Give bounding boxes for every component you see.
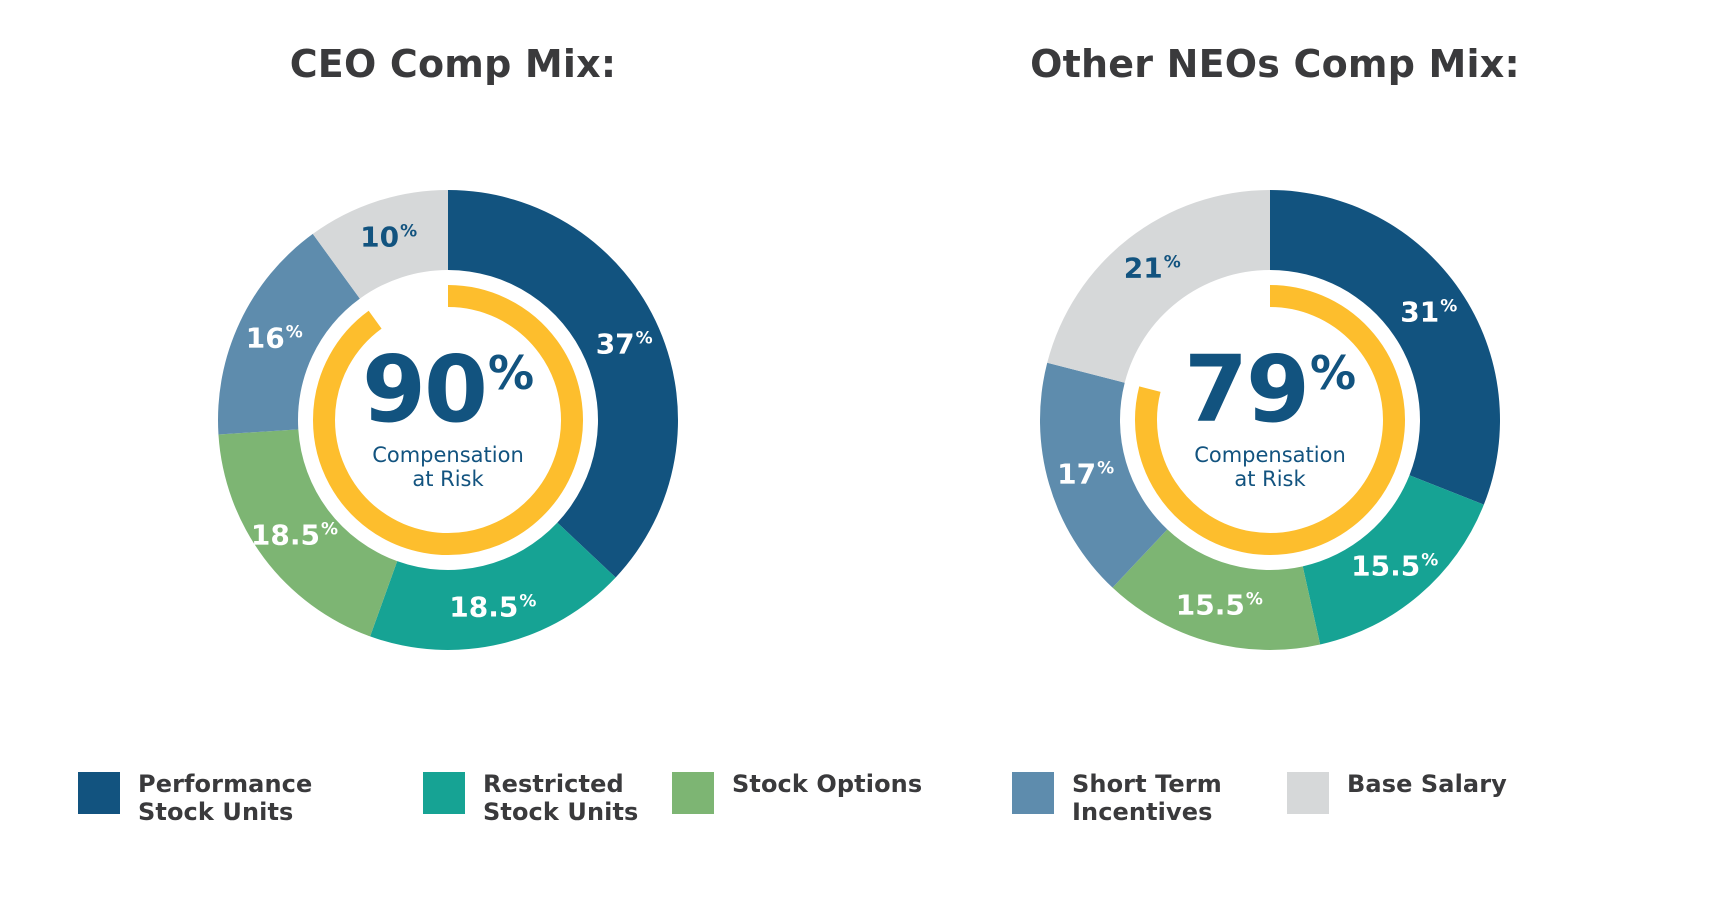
donut-ceo-at-risk-ring (324, 296, 572, 544)
slice-label: 18.5% (251, 519, 338, 552)
chart-title-neo: Other NEOs Comp Mix: (822, 42, 1728, 86)
chart-legend: Performance Stock UnitsRestricted Stock … (0, 770, 1728, 850)
donut-chart-neo: 79 % Compensation at Risk 31%15.5%15.5%1… (990, 140, 1550, 700)
chart-title-ceo: CEO Comp Mix: (0, 42, 906, 86)
legend-swatch-restricted-stock-units (423, 772, 465, 814)
legend-label-stock-options: Stock Options (732, 770, 922, 798)
legend-item-performance-stock-units[interactable]: Performance Stock Units (78, 770, 312, 827)
donut-ceo-svg (168, 140, 728, 700)
slice-label: 37% (596, 327, 653, 360)
donut-slice (1047, 190, 1270, 383)
legend-item-short-term-incentives[interactable]: Short Term Incentives (1012, 770, 1222, 827)
legend-swatch-stock-options (672, 772, 714, 814)
slice-label: 10% (360, 221, 417, 254)
legend-label-performance-stock-units: Performance Stock Units (138, 770, 312, 827)
legend-swatch-base-salary (1287, 772, 1329, 814)
legend-swatch-short-term-incentives (1012, 772, 1054, 814)
slice-label: 17% (1057, 457, 1114, 490)
slice-label: 16% (246, 322, 303, 355)
slice-label: 15.5% (1351, 549, 1438, 582)
legend-item-base-salary[interactable]: Base Salary (1287, 770, 1507, 814)
at-risk-arc (324, 296, 572, 544)
donut-neo-svg (990, 140, 1550, 700)
legend-item-restricted-stock-units[interactable]: Restricted Stock Units (423, 770, 638, 827)
slice-label: 15.5% (1176, 589, 1263, 622)
donut-chart-ceo: 90 % Compensation at Risk 37%18.5%18.5%1… (168, 140, 728, 700)
legend-label-base-salary: Base Salary (1347, 770, 1507, 798)
legend-swatch-performance-stock-units (78, 772, 120, 814)
slice-label: 18.5% (449, 590, 536, 623)
legend-label-short-term-incentives: Short Term Incentives (1072, 770, 1222, 827)
slice-label: 31% (1400, 296, 1457, 329)
donut-ceo-slices (218, 190, 678, 650)
slice-label: 21% (1124, 252, 1181, 285)
legend-label-restricted-stock-units: Restricted Stock Units (483, 770, 638, 827)
legend-item-stock-options[interactable]: Stock Options (672, 770, 922, 814)
donut-neo-at-risk-ring (1146, 296, 1394, 544)
infographic-canvas: CEO Comp Mix: Other NEOs Comp Mix: 90 % … (0, 0, 1728, 908)
at-risk-arc (1146, 296, 1394, 544)
